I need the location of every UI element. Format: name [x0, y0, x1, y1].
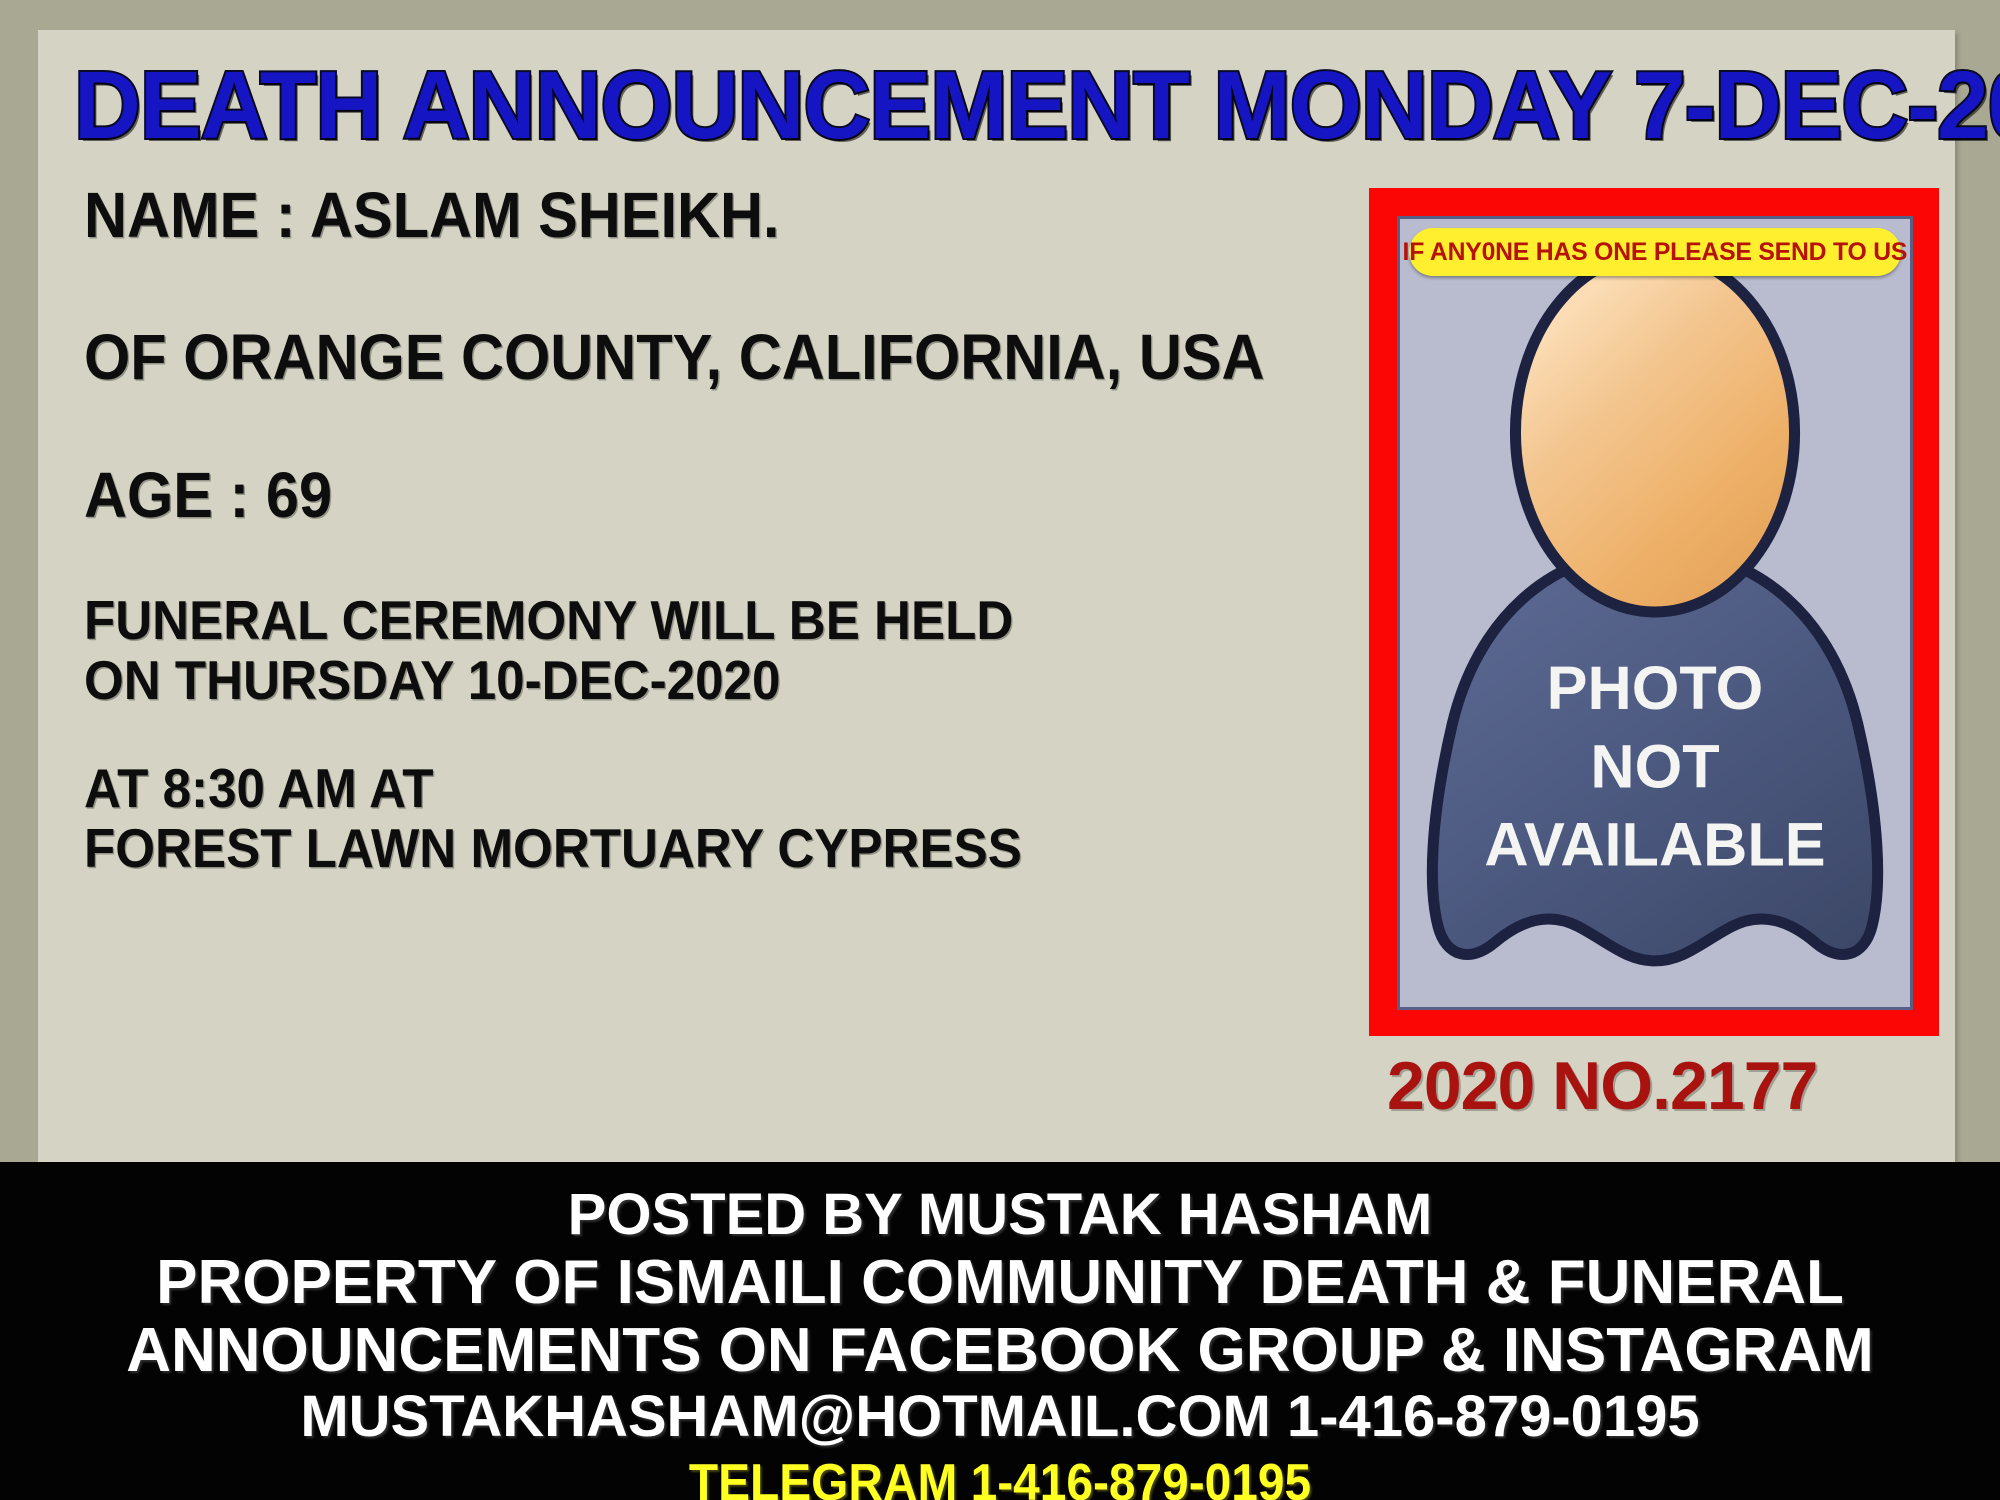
announcement-card: DEATH ANNOUNCEMENT MONDAY 7-DEC-2020 NAM…: [38, 30, 1955, 1162]
announcement-details: NAME : ASLAM SHEIKH. OF ORANGE COUNTY, C…: [84, 180, 1094, 878]
spacer: [84, 392, 1094, 460]
photo-placeholder-line-1: PHOTO: [1547, 654, 1764, 722]
footer-channels-line: ANNOUNCEMENTS ON FACEBOOK GROUP & INSTAG…: [0, 1318, 2000, 1384]
deceased-name-line: NAME : ASLAM SHEIKH.: [84, 180, 1023, 250]
death-announcement-poster: DEATH ANNOUNCEMENT MONDAY 7-DEC-2020 NAM…: [0, 0, 2000, 1500]
page-title: DEATH ANNOUNCEMENT MONDAY 7-DEC-2020: [74, 58, 1869, 154]
photo-placeholder: PHOTO NOT AVAILABLE IF ANY0NE HAS ONE PL…: [1397, 216, 1913, 1010]
person-placeholder-icon: PHOTO NOT AVAILABLE: [1400, 219, 1910, 1007]
footer-property-line: PROPERTY OF ISMAILI COMMUNITY DEATH & FU…: [0, 1250, 2000, 1316]
deceased-location-line: OF ORANGE COUNTY, CALIFORNIA, USA: [84, 322, 1023, 392]
footer-contact-line: MUSTAKHASHAM@HOTMAIL.COM 1-416-879-0195: [0, 1386, 2000, 1448]
deceased-age-line: AGE : 69: [84, 460, 1023, 530]
funeral-venue-line: FOREST LAWN MORTUARY CYPRESS: [84, 818, 1023, 878]
spacer: [84, 250, 1094, 322]
photo-placeholder-line-2: NOT: [1590, 732, 1719, 800]
funeral-time-line: AT 8:30 AM AT: [84, 758, 1023, 818]
photo-placeholder-line-3: AVAILABLE: [1484, 811, 1825, 879]
footer-banner: POSTED BY MUSTAK HASHAM PROPERTY OF ISMA…: [0, 1162, 2000, 1500]
spacer: [84, 530, 1094, 590]
send-photo-banner: IF ANY0NE HAS ONE PLEASE SEND TO US: [1409, 228, 1901, 276]
footer-telegram-line: TELEGRAM 1-416-879-0195: [80, 1454, 1920, 1500]
photo-frame: PHOTO NOT AVAILABLE IF ANY0NE HAS ONE PL…: [1369, 188, 1939, 1036]
send-photo-banner-label: IF ANY0NE HAS ONE PLEASE SEND TO US: [1403, 238, 1908, 267]
reference-number: 2020 NO.2177: [1387, 1050, 1817, 1122]
footer-posted-by: POSTED BY MUSTAK HASHAM: [0, 1184, 2000, 1246]
funeral-ceremony-line-2: ON THURSDAY 10-DEC-2020: [84, 650, 1023, 710]
funeral-ceremony-line-1: FUNERAL CEREMONY WILL BE HELD: [84, 590, 1023, 650]
spacer: [84, 710, 1094, 758]
